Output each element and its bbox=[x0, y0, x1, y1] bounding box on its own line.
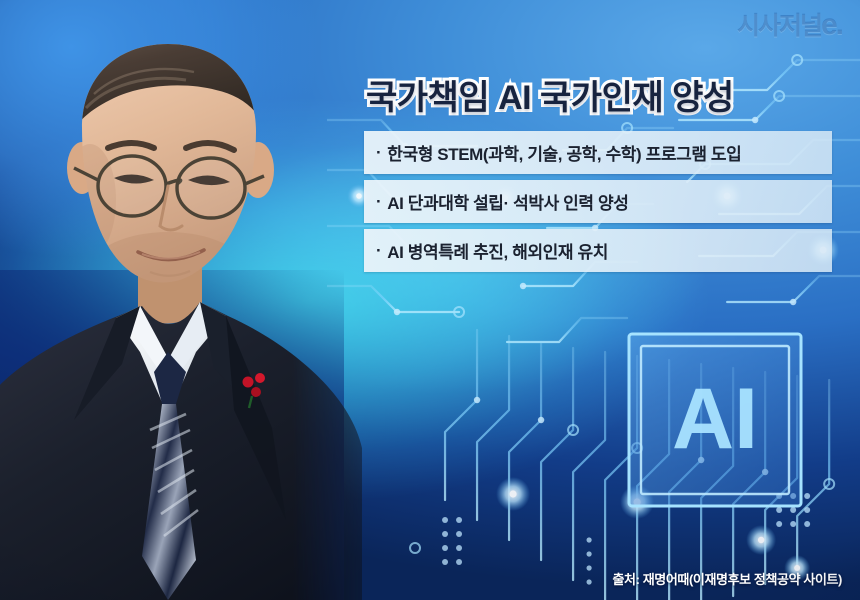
vignette-overlay bbox=[0, 0, 860, 600]
infographic-card: AI bbox=[0, 0, 860, 600]
